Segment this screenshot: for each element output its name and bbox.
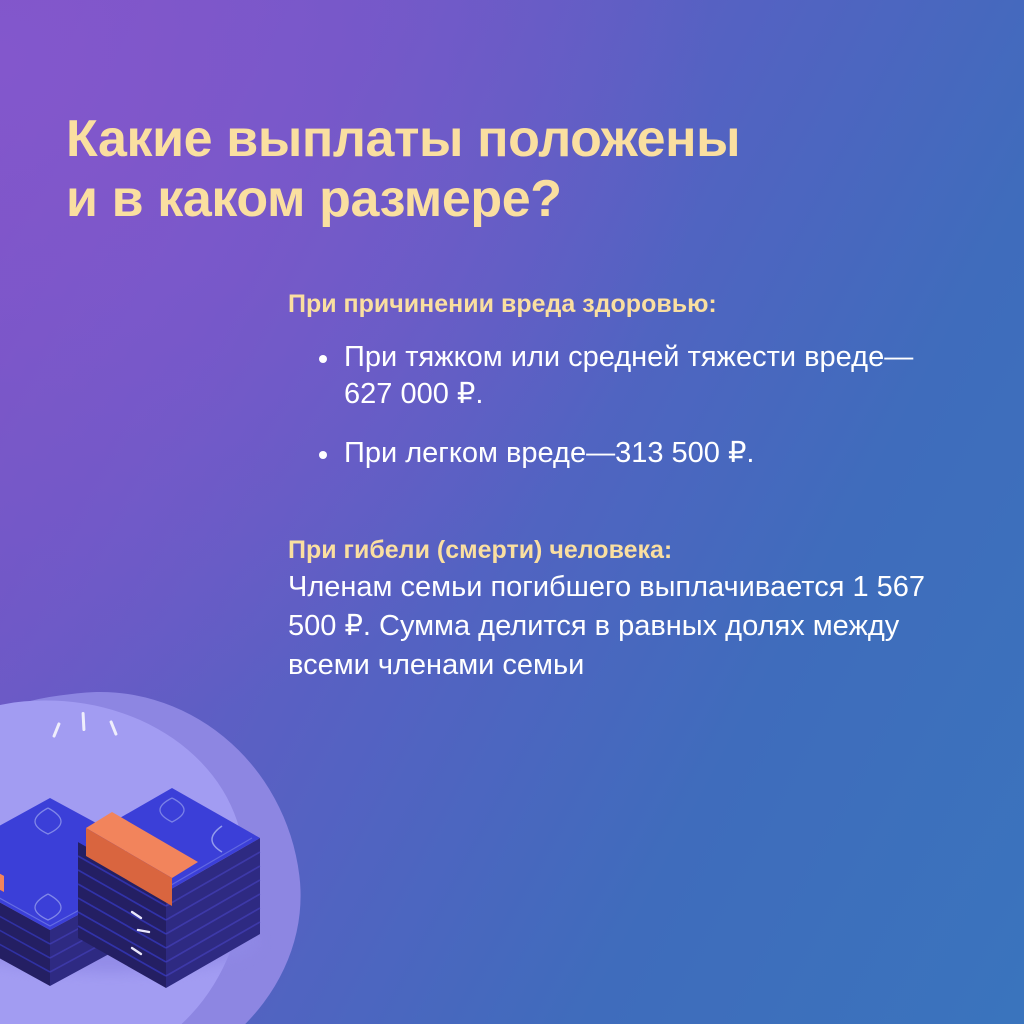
section-health-damage: При причинении вреда здоровью: При тяжко… (288, 288, 960, 472)
section-health-heading: При причинении вреда здоровью: (288, 288, 960, 321)
page-title-line-1: Какие выплаты положены (66, 110, 740, 168)
list-item: При легком вреде—313 500 ₽. (288, 435, 960, 472)
page-title: Какие выплаты положены и в каком размере… (66, 109, 946, 230)
page-title-line-2: и в каком размере? (66, 170, 562, 228)
list-item: При тяжком или средней тяжести вреде—627… (288, 339, 960, 413)
section-death-heading: При гибели (смерти) человека: (288, 534, 960, 567)
money-stacks-illustration (0, 716, 300, 996)
health-payout-list: При тяжком или средней тяжести вреде—627… (288, 339, 960, 472)
section-death-paragraph: Членам семьи погибшего выплачивается 1 5… (288, 568, 960, 685)
slide-canvas: Какие выплаты положены и в каком размере… (0, 0, 1024, 1024)
content-column: При причинении вреда здоровью: При тяжко… (288, 288, 960, 685)
section-death-payout: При гибели (смерти) человека: Членам сем… (288, 534, 960, 685)
